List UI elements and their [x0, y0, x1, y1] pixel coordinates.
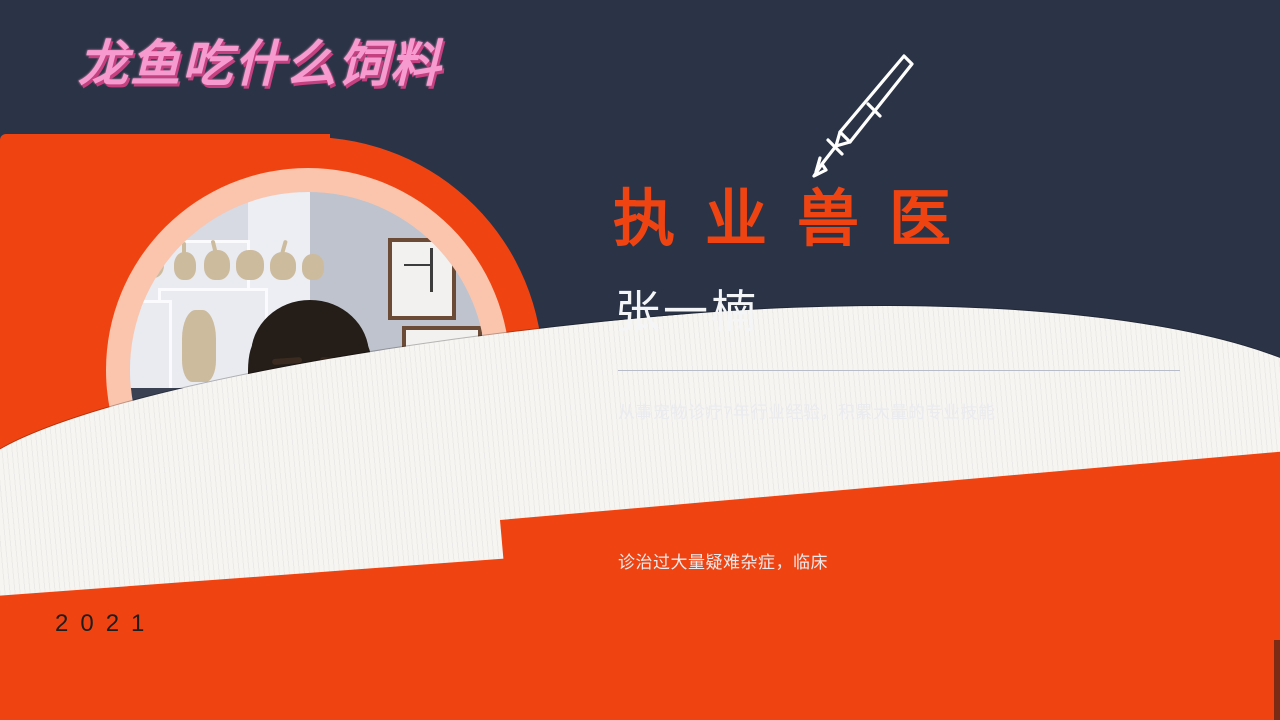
- photo-wall-frame: [388, 238, 456, 320]
- bio-line-2-clip: 诊治过大量疑难杂症，临床: [618, 548, 1088, 574]
- photo-pot: [236, 250, 264, 280]
- fountain-pen-icon: [792, 46, 920, 182]
- photo-frame-line: [404, 264, 430, 266]
- bio-line-2: 诊治过大量疑难杂症，临床: [618, 548, 1088, 573]
- photo-pot: [270, 252, 296, 280]
- photo-pot-large: [182, 310, 216, 382]
- slide-canvas: 龙鱼吃什么饲料 执业兽医 张一楠 从事宠物诊疗7年行业经验，积累大量的专业技能 …: [0, 0, 1280, 720]
- photo-pot: [174, 252, 196, 280]
- year-label: 2021: [55, 610, 156, 638]
- person-name: 张一楠: [615, 275, 759, 340]
- photo-frame-line: [430, 248, 433, 292]
- photo-pot: [204, 250, 230, 280]
- role-title: 执业兽医: [613, 168, 981, 258]
- photo-shelf-box: [130, 300, 172, 392]
- right-edge-rim: [1274, 640, 1280, 720]
- photo-pot: [302, 254, 324, 280]
- photo-pot: [140, 248, 164, 278]
- divider: [618, 370, 1180, 371]
- page-title: 龙鱼吃什么饲料: [78, 24, 442, 96]
- photo-pot-neck: [182, 242, 186, 254]
- bio-line-1: 从事宠物诊疗7年行业经验，积累大量的专业技能: [618, 398, 995, 423]
